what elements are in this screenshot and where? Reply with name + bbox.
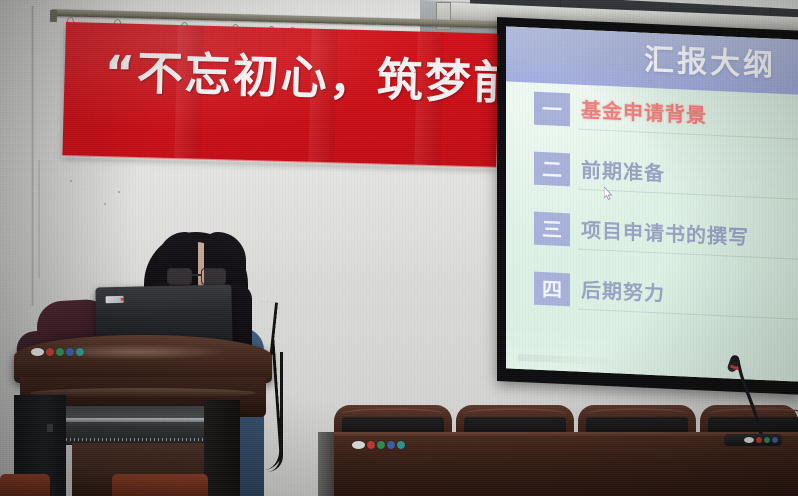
sticker-teal-icon xyxy=(397,441,405,449)
eyeglasses-icon xyxy=(167,268,224,283)
wall-mark xyxy=(104,203,106,205)
slide-item-rule xyxy=(578,309,798,321)
sticker-teal-icon xyxy=(76,348,84,356)
slide-item-4[interactable]: 四 后期努力 xyxy=(534,269,778,324)
gooseneck-microphone-stem xyxy=(736,360,772,438)
front-chair xyxy=(112,474,208,496)
sticker-oval-white-icon xyxy=(352,441,365,449)
wall-seam-lower xyxy=(38,160,40,278)
front-chair xyxy=(0,474,50,496)
podium-shadow-right xyxy=(204,400,240,496)
wall-mark xyxy=(70,180,72,182)
sticker-oval-white-icon xyxy=(31,348,44,356)
slide-item-label: 后期努力 xyxy=(581,275,665,310)
red-banner: “不忘初心，筑梦前行，争 xyxy=(62,22,499,168)
sticker-blue-icon xyxy=(66,348,74,356)
slide-item-number-box: 二 xyxy=(534,152,570,187)
slide-item-label: 基金申请背景 xyxy=(581,95,707,132)
mouse-cursor-icon xyxy=(604,187,613,200)
projection-screen-surface: 汇报大纲 一 基金申请背景 二 前期准备 xyxy=(506,26,798,381)
slide-item-label: 项目申请书的撰写 xyxy=(581,215,749,254)
slide-item-2[interactable]: 二 前期准备 xyxy=(534,149,778,204)
sticker-red-icon xyxy=(367,441,375,449)
slide-item-3[interactable]: 三 项目申请书的撰写 xyxy=(534,209,778,264)
presentation-slide: 汇报大纲 一 基金申请背景 二 前期准备 xyxy=(506,26,798,381)
slide-item-number-box: 三 xyxy=(534,212,570,247)
sticker-green-icon xyxy=(377,441,385,449)
slide-item-number: 一 xyxy=(542,99,562,120)
slide-item-number: 四 xyxy=(542,279,562,300)
sticker-red-icon xyxy=(46,348,54,356)
laptop-logo-dot-icon xyxy=(121,298,124,301)
sticker-green-icon xyxy=(764,437,770,443)
sticker-red-icon xyxy=(756,437,762,443)
sticker-blue-icon xyxy=(772,437,778,443)
slide-item-number-box: 一 xyxy=(534,92,570,127)
sticker-green-icon xyxy=(56,348,64,356)
slide-item-label: 前期准备 xyxy=(581,155,665,190)
desk-side-panel xyxy=(318,432,334,496)
slide-title: 汇报大纲 xyxy=(644,41,776,87)
slide-item-number: 二 xyxy=(542,159,562,180)
podium-sticker-dots xyxy=(31,348,84,356)
projection-screen: 汇报大纲 一 基金申请背景 二 前期准备 xyxy=(497,17,798,395)
sticker-blue-icon xyxy=(387,441,395,449)
wall-seam xyxy=(31,6,34,306)
mic-base-sticker-dots xyxy=(744,437,778,443)
wall-mark xyxy=(118,191,120,193)
sticker-oval-white-icon xyxy=(744,437,754,443)
slide-item-number-box: 四 xyxy=(534,272,570,307)
presentation-room-photo: “不忘初心，筑梦前行，争 汇报大纲 一 基金申请背景 xyxy=(0,0,798,496)
slide-item-number: 三 xyxy=(542,219,562,240)
banner-rail-end-cap xyxy=(50,10,57,22)
slide-item-1[interactable]: 一 基金申请背景 xyxy=(534,89,778,144)
desk-sticker-dots xyxy=(352,441,405,449)
cabinet-lock-icon xyxy=(47,424,53,432)
